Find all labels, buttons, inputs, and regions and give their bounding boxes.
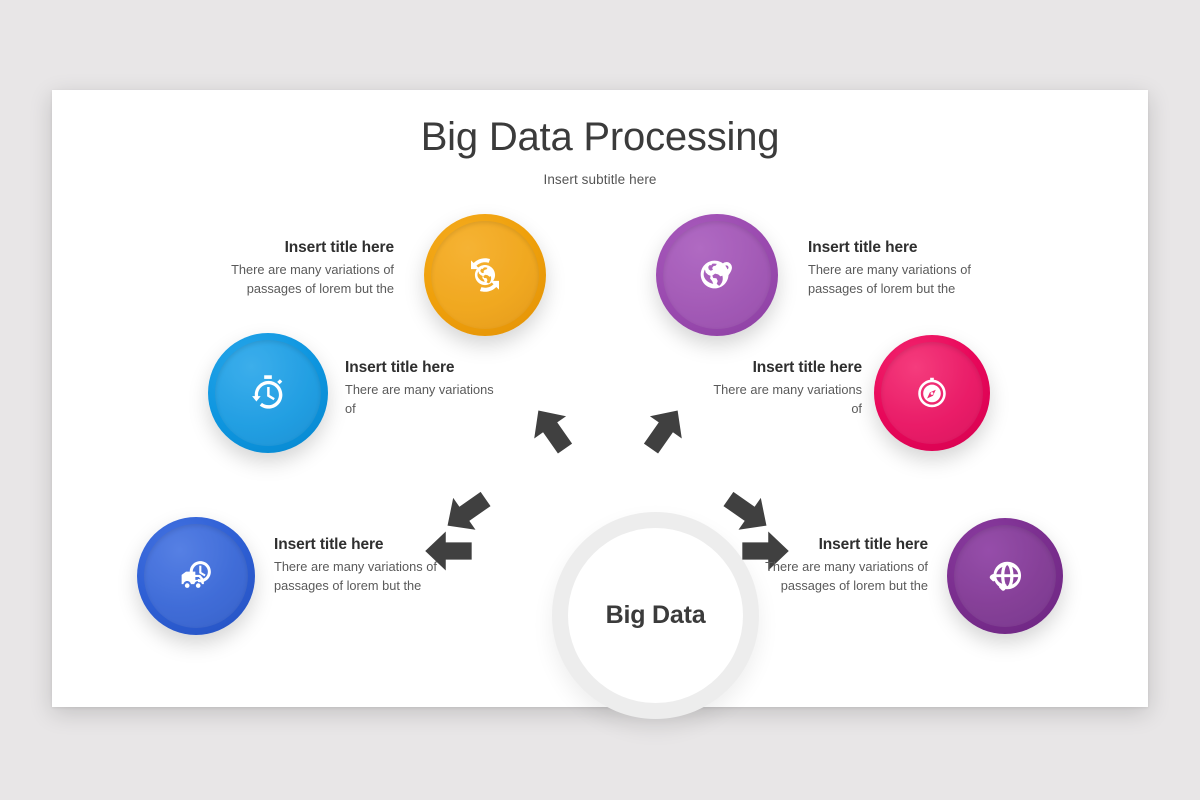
text-block-top-left: Insert title here There are many variati…: [202, 238, 394, 299]
stopwatch-icon: [208, 333, 328, 453]
globe-location-pin-icon: [656, 214, 778, 336]
node-middle-left[interactable]: [208, 333, 328, 453]
center-hub-inner: Big Data: [568, 528, 743, 703]
node-description: There are many variations of passages of…: [808, 261, 1000, 298]
node-description: There are many variations of passages of…: [202, 261, 394, 298]
node-middle-right[interactable]: [874, 335, 990, 451]
arrow-up-left-icon: [514, 392, 589, 467]
node-title: Insert title here: [202, 238, 394, 257]
arrow-up-right-icon: [626, 392, 701, 467]
slide-card: Big Data Processing Insert subtitle here…: [52, 90, 1148, 707]
node-title: Insert title here: [274, 535, 444, 554]
node-title: Insert title here: [345, 358, 505, 377]
text-block-top-right: Insert title here There are many variati…: [808, 238, 1000, 299]
node-description: There are many variations of passages of…: [758, 558, 928, 595]
node-description: There are many variations of passages of…: [274, 558, 444, 595]
slide-canvas: Big Data Processing Insert subtitle here…: [0, 0, 1200, 800]
center-hub-label: Big Data: [606, 601, 706, 630]
node-title: Insert title here: [758, 535, 928, 554]
compass-icon: [874, 335, 990, 451]
node-bottom-right[interactable]: [947, 518, 1063, 634]
text-block-middle-right: Insert title here There are many variati…: [702, 358, 862, 419]
node-title: Insert title here: [808, 238, 1000, 257]
node-description: There are many variations of: [345, 381, 505, 418]
text-block-middle-left: Insert title here There are many variati…: [345, 358, 505, 419]
globe-phone-icon: [947, 518, 1063, 634]
globe-refresh-icon: [424, 214, 546, 336]
center-hub[interactable]: Big Data: [552, 512, 759, 719]
text-block-bottom-left: Insert title here There are many variati…: [274, 535, 444, 596]
node-top-left[interactable]: [424, 214, 546, 336]
node-description: There are many variations of: [702, 381, 862, 418]
page-title: Big Data Processing: [52, 116, 1148, 158]
node-bottom-left[interactable]: [137, 517, 255, 635]
node-title: Insert title here: [702, 358, 862, 377]
node-top-right[interactable]: [656, 214, 778, 336]
text-block-bottom-right: Insert title here There are many variati…: [758, 535, 928, 596]
page-subtitle: Insert subtitle here: [52, 172, 1148, 187]
delivery-truck-clock-icon: [137, 517, 255, 635]
